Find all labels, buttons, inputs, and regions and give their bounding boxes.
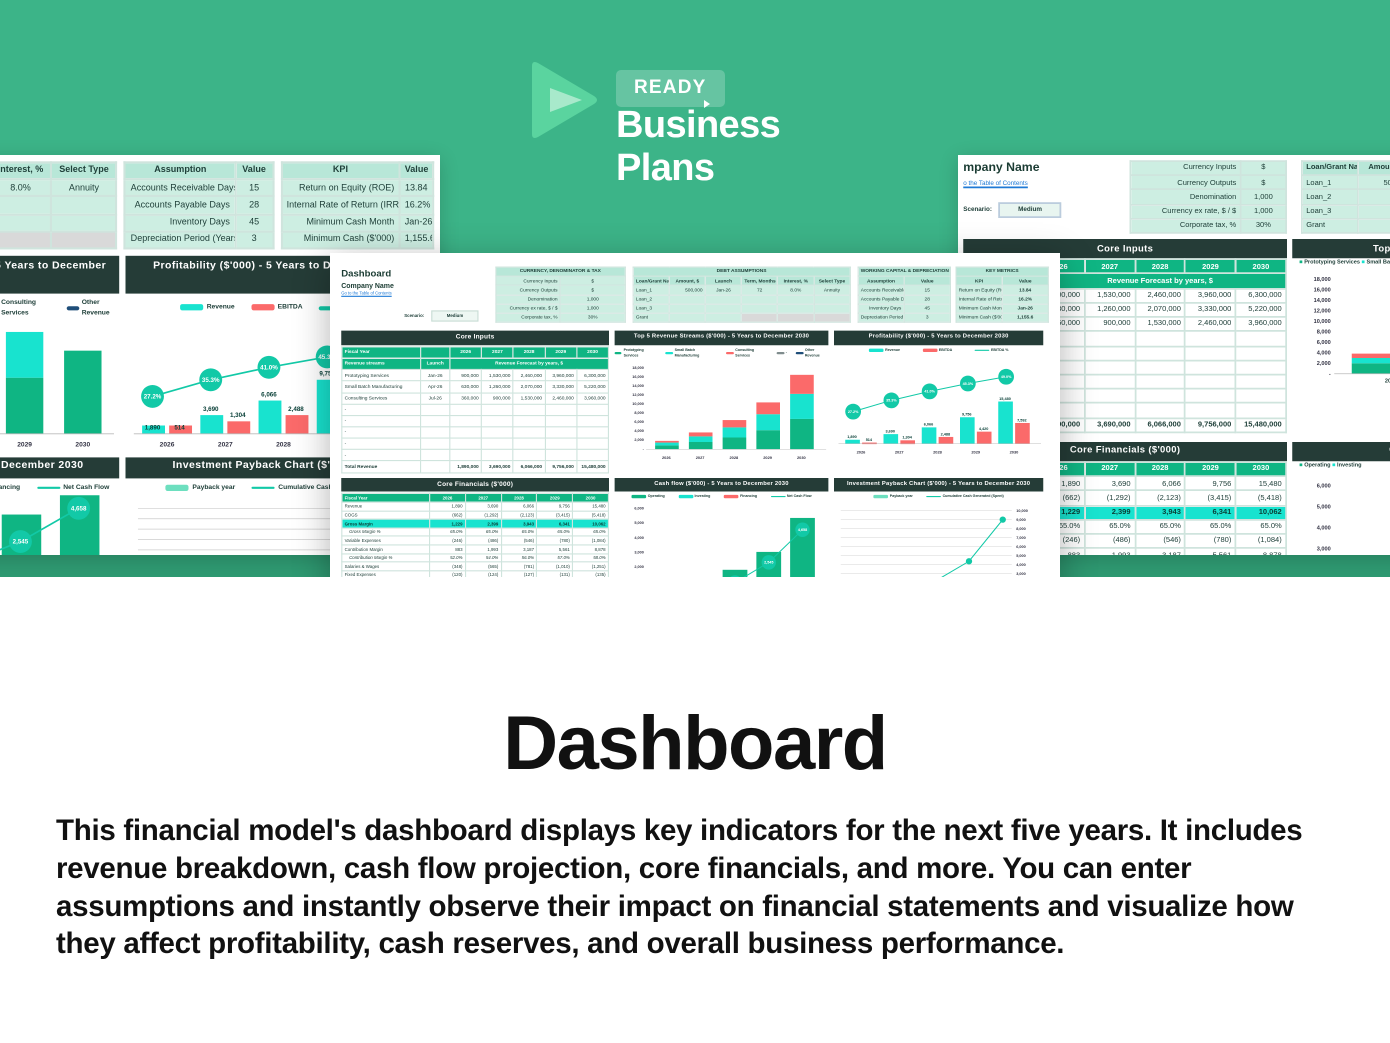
table-row[interactable]: Loan_3 — [633, 304, 850, 313]
wc-cell[interactable]: 45 — [904, 304, 950, 313]
svg-text:3,000: 3,000 — [1317, 546, 1331, 552]
currency-row-value[interactable]: 1,000 — [560, 304, 625, 313]
stream-value[interactable]: 1,530,000 — [513, 393, 545, 404]
table-row[interactable]: - — [342, 415, 609, 426]
fin-value: (1,010) — [537, 562, 573, 571]
core-inputs-table: Fiscal Year 2026 2027 2028 2029 2030 Rev… — [341, 346, 609, 473]
svg-text:10,000: 10,000 — [1314, 319, 1331, 325]
fin-value: (5,418) — [573, 511, 609, 520]
svg-text:2,000: 2,000 — [634, 437, 644, 441]
cash-flow-chart-title: Cash flow ($'000) - 5 Years to December … — [615, 478, 829, 492]
debt-cell[interactable]: Loan_2 — [633, 295, 669, 304]
table-row: Inventory Days45 — [858, 304, 950, 313]
stream-launch[interactable]: Apr-26 — [421, 381, 450, 392]
svg-text:27.2%: 27.2% — [143, 393, 161, 400]
revenue-label: 3,690 — [885, 429, 895, 433]
profitability-plot: 27.2% 35.3% 41.0% 45.3% 49.0% 1,890 514 … — [834, 353, 1043, 468]
currency-title: CURRENCY, DENOMINATOR & TAX — [495, 267, 625, 276]
fin-value: (1,292) — [465, 511, 501, 520]
svg-text:14,000: 14,000 — [1314, 298, 1331, 304]
stream-value[interactable]: 1,530,000 — [482, 370, 514, 381]
fin-value: 65.0% — [430, 528, 466, 537]
launch-label: Launch — [421, 358, 450, 369]
fin-value: 54.0% — [465, 554, 501, 563]
wc-col-head: Assumption — [858, 276, 904, 285]
fin-value: 1,890 — [430, 502, 466, 511]
km-cell: Internal Rate of Return (IRR), % — [956, 295, 1002, 304]
fin-value: (3,415) — [537, 511, 573, 520]
fin-label: Variable Expenses — [342, 536, 430, 545]
table-row[interactable]: Small Batch ManufacturingApr-26630,0001,… — [342, 381, 609, 392]
fin-label: COGS — [342, 511, 430, 520]
wc-cell[interactable]: 3 — [904, 313, 950, 322]
legend-label: Prototyping Services — [624, 348, 657, 359]
debt-col-head: Interest, % — [778, 276, 814, 285]
svg-text:41.0%: 41.0% — [259, 364, 277, 371]
svg-text:2,545: 2,545 — [13, 539, 29, 546]
y-tick: 3,000 — [634, 550, 644, 554]
legend-label: Payback year — [890, 494, 913, 499]
debt-col-head: Loan/Grant Name — [633, 276, 669, 285]
fin-value: 8,878 — [573, 545, 609, 554]
svg-text:18,000: 18,000 — [1314, 277, 1331, 283]
year-head: 2030 — [573, 494, 609, 503]
revenue-label: 15,480 — [999, 397, 1011, 401]
fin-value: (1,084) — [573, 536, 609, 545]
table-row[interactable]: Consulting ServicesJul-26360,000900,0001… — [342, 393, 609, 404]
year-head: 2029 — [537, 494, 573, 503]
fin-label: Revenue — [342, 502, 430, 511]
km-title: KEY METRICS — [956, 267, 1048, 276]
legend-label: Net Cash Flow — [787, 494, 812, 499]
debt-col-head: Launch — [705, 276, 741, 285]
svg-text:2027: 2027 — [217, 441, 232, 448]
small-play-icon — [704, 100, 710, 108]
wc-cell: Inventory Days — [858, 304, 904, 313]
x-tick: 2028 — [730, 454, 740, 459]
company-name: Company Name — [341, 281, 495, 291]
table-row: Return on Equity (ROE)13.84 — [956, 286, 1048, 295]
fin-value: 3,943 — [501, 519, 537, 528]
fin-value: 65.0% — [501, 528, 537, 537]
svg-text:2030: 2030 — [75, 441, 90, 448]
year-head: 2027 — [465, 494, 501, 503]
debt-cell[interactable]: 500,000 — [669, 286, 705, 295]
margin-label: 35.3% — [886, 398, 897, 402]
margin-label: 45.3% — [963, 382, 974, 386]
debt-cell[interactable]: 8.0% — [778, 286, 814, 295]
x-tick: 2029 — [971, 449, 981, 454]
currency-table: CURRENCY, DENOMINATOR & TAX Currency Inp… — [495, 267, 626, 324]
dashboard-title: Dashboard — [341, 267, 495, 281]
streams-label: Revenue streams — [342, 358, 421, 369]
x-tick: 2029 — [763, 454, 773, 459]
stream-name[interactable]: - — [342, 404, 421, 415]
legend-label: EBITDA — [939, 348, 952, 353]
svg-text:12,000: 12,000 — [632, 392, 644, 396]
total-value: 15,480,000 — [577, 461, 609, 472]
stream-launch[interactable]: Jul-26 — [421, 393, 450, 404]
revenue-label: 6,066 — [924, 422, 934, 426]
x-tick: 2026 — [662, 454, 672, 459]
ebitda-label: 7,592 — [1017, 418, 1027, 422]
fin-value: 6,066 — [501, 502, 537, 511]
table-row: Accounts Receivable Days15 — [858, 286, 950, 295]
table-row[interactable]: Prototyping ServicesJan-26900,0001,530,0… — [342, 370, 609, 381]
margin-label: 27.2% — [848, 410, 859, 414]
x-tick: 2028 — [933, 449, 943, 454]
year-head: 2027 — [482, 347, 514, 358]
svg-text:8,000: 8,000 — [634, 410, 644, 414]
stream-value[interactable]: 1,260,000 — [482, 381, 514, 392]
stream-value[interactable]: 3,960,000 — [577, 393, 609, 404]
fin-value: (135) — [573, 571, 609, 577]
revenue-label: 9,756 — [962, 412, 972, 416]
hero-banner: Amount, $LaunchTerm, MonthsInterest, %Se… — [0, 0, 1390, 577]
debt-col-head: Amount, $ — [669, 276, 705, 285]
stream-value[interactable]: 3,960,000 — [545, 370, 577, 381]
fin-value: (131) — [537, 571, 573, 577]
revenue-streams-chart: Prototyping Services Small Batch Manufac… — [615, 346, 829, 473]
currency-row-label: Corporate tax, % — [495, 313, 560, 322]
svg-text:4,658: 4,658 — [71, 505, 87, 512]
svg-text:8,000: 8,000 — [1317, 330, 1331, 336]
y-tick: 8,000 — [1016, 527, 1026, 531]
fin-value: 883 — [430, 545, 466, 554]
table-row: Minimum Cash MonthJan-26 — [956, 304, 1048, 313]
table-row: Contribution Margin8831,9933,1875,5618,8… — [342, 545, 609, 554]
revenue-streams-plot: 18,00016,00014,000 12,00010,0008,000 6,0… — [615, 358, 829, 473]
table-row[interactable]: - — [342, 438, 609, 449]
fin-value: 5,561 — [537, 545, 573, 554]
stream-name[interactable]: Small Batch Manufacturing — [342, 381, 421, 392]
margin-label: 49.0% — [1001, 375, 1012, 379]
km-value: Jan-26 — [1002, 304, 1048, 313]
total-value: 6,066,000 — [513, 461, 545, 472]
ebitda-label: 2,488 — [941, 432, 951, 436]
svg-text:4,000: 4,000 — [634, 428, 644, 432]
currency-row-value[interactable]: $ — [560, 276, 625, 285]
wc-cell[interactable]: 15 — [904, 286, 950, 295]
stream-name[interactable]: - — [342, 438, 421, 449]
svg-text:2,488: 2,488 — [287, 405, 303, 412]
core-financials-table: Fiscal Year 2026 2027 2028 2029 2030 Rev… — [341, 493, 609, 577]
fin-value: 6,341 — [537, 519, 573, 528]
toc-link[interactable]: Go to the Table of Contents — [341, 291, 495, 297]
fin-value: (1,251) — [573, 562, 609, 571]
svg-text:2029: 2029 — [17, 441, 32, 448]
table-row[interactable]: Loan_1 500,000 Jan-26 72 8.0% Annuity — [633, 286, 850, 295]
core-financials-header: Core Financials ($'000) — [341, 478, 609, 492]
table-row[interactable]: - — [342, 404, 609, 415]
fin-value: 65.0% — [537, 528, 573, 537]
stream-name[interactable]: Consulting Services — [342, 393, 421, 404]
year-head: 2029 — [545, 347, 577, 358]
stream-value[interactable]: 2,070,000 — [513, 381, 545, 392]
play-triangle-icon — [528, 60, 600, 140]
fin-value: 9,756 — [537, 502, 573, 511]
debt-col-head: Term, Months — [742, 276, 778, 285]
legend-label: Operating — [648, 494, 665, 499]
cash-flow-plot: 6,000 5,000 4,000 3,000 2,000 1,000 - (1… — [615, 499, 829, 577]
wc-cell[interactable]: 28 — [904, 295, 950, 304]
svg-text:6,000: 6,000 — [1317, 340, 1331, 346]
margin-label: 41.0% — [924, 389, 935, 393]
stream-value[interactable]: 630,000 — [450, 381, 482, 392]
currency-row-label: Currency Outputs — [495, 286, 560, 295]
table-row: COGS(662)(1,292)(2,123)(3,415)(5,418) — [342, 511, 609, 520]
table-row: Salaries & Wages(348)(565)(781)(1,010)(1… — [342, 562, 609, 571]
x-tick: 2027 — [895, 449, 905, 454]
stream-value[interactable]: 6,300,000 — [577, 370, 609, 381]
ebitda-label: 4,420 — [979, 427, 989, 431]
svg-text:6,000: 6,000 — [634, 419, 644, 423]
profitability-chart-title: Profitability ($'000) - 5 Years to Decem… — [834, 331, 1043, 345]
revenue-streams-chart-title: Top 5 Revenue Streams ($'000) - 5 Years … — [615, 331, 829, 345]
payback-chart-title: Investment Payback Chart ($'000) - 5 Yea… — [834, 478, 1043, 492]
fin-value: 57.0% — [537, 554, 573, 563]
table-row: Internal Rate of Return (IRR), %16.2% — [956, 295, 1048, 304]
fin-value: (781) — [501, 562, 537, 571]
fin-value: (246) — [430, 536, 466, 545]
table-row: Gross Margin %65.0%65.0%65.0%65.0%65.0% — [342, 528, 609, 537]
fin-label: Salaries & Wages — [342, 562, 430, 571]
km-cell: Minimum Cash ($'000) — [956, 313, 1002, 322]
fin-label: Contribution Margin — [342, 545, 430, 554]
stream-value[interactable]: 2,460,000 — [545, 393, 577, 404]
fin-value: 2,399 — [465, 519, 501, 528]
x-tick: 2030 — [1010, 449, 1020, 454]
fin-value: 1,993 — [465, 545, 501, 554]
forecast-label: Revenue Forecast by years, $ — [450, 358, 609, 369]
page-title: Dashboard — [0, 700, 1390, 787]
fiscal-year-label: Fiscal Year — [342, 494, 430, 503]
currency-row-label: Currency Inputs — [495, 276, 560, 285]
dashboard-spreadsheet[interactable]: Dashboard Company Name Go to the Table o… — [330, 253, 1060, 577]
legend-label: Other Revenue — [805, 348, 829, 359]
svg-text:35.3%: 35.3% — [201, 376, 219, 383]
brand-logo: READY Business Plans — [528, 58, 888, 158]
investment-payback-chart: Payback year Cumulative Cash Generated (… — [834, 493, 1043, 577]
fin-value: 1,229 — [430, 519, 466, 528]
fin-value: (662) — [430, 511, 466, 520]
svg-text:18,000: 18,000 — [632, 365, 644, 369]
svg-text:16,000: 16,000 — [632, 374, 644, 378]
investment-payback-plot: 10,000 9,000 8,000 7,000 6,000 5,000 4,0… — [834, 499, 1043, 577]
core-inputs-header: Core Inputs — [341, 331, 609, 345]
legend-label: Revenue — [885, 348, 900, 353]
svg-text:3,690: 3,690 — [202, 405, 218, 412]
km-cell: Minimum Cash Month — [956, 304, 1002, 313]
fin-value: (486) — [465, 536, 501, 545]
table-row: Accounts Payable Days28 — [858, 295, 950, 304]
total-value: 1,890,000 — [450, 461, 482, 472]
fiscal-year-label: Fiscal Year — [342, 347, 421, 358]
legend-label: Small Batch Manufacturing — [675, 348, 718, 359]
svg-text:12,000: 12,000 — [1314, 309, 1331, 315]
legend-label: EBITDA % — [991, 348, 1008, 353]
scenario-select[interactable]: Medium — [431, 310, 479, 322]
legend-label: Financing — [740, 494, 757, 499]
table-row: Contribution Margin %52.0%54.0%56.0%57.0… — [342, 554, 609, 563]
fin-label: Contribution Margin % — [342, 554, 430, 563]
stream-value[interactable]: 900,000 — [482, 393, 514, 404]
brand-name: Business Plans — [616, 104, 888, 190]
table-row: Gross Margin1,2292,3993,9436,34110,062 — [342, 519, 609, 528]
debt-cell[interactable]: Loan_3 — [633, 304, 669, 313]
fin-value: 65.0% — [573, 528, 609, 537]
wc-cell: Accounts Receivable Days — [858, 286, 904, 295]
debt-cell[interactable]: Annuity — [814, 286, 850, 295]
scenario-label: Scenario: — [404, 313, 424, 320]
table-row: Fixed Expenses(120)(124)(127)(131)(135) — [342, 571, 609, 577]
y-tick: 4,000 — [634, 536, 644, 540]
legend-label: Investing — [695, 494, 711, 499]
fin-value: 3,690 — [465, 502, 501, 511]
year-head: 2026 — [430, 494, 466, 503]
fin-value: (565) — [465, 562, 501, 571]
fin-value: 56.0% — [501, 554, 537, 563]
fin-value: 3,187 — [501, 545, 537, 554]
fin-value: (120) — [430, 571, 466, 577]
debt-cell[interactable]: 72 — [742, 286, 778, 295]
stream-value[interactable]: 900,000 — [450, 370, 482, 381]
legend-label: - — [786, 350, 787, 355]
table-row[interactable]: - — [342, 450, 609, 461]
fin-value: 10,062 — [573, 519, 609, 528]
x-tick: 2030 — [797, 454, 807, 459]
svg-text:1,890: 1,890 — [144, 424, 160, 431]
revenue-label: 1,890 — [847, 435, 857, 439]
dashboard-header-block: Dashboard Company Name Go to the Table o… — [341, 267, 495, 322]
ebitda-label: 514 — [866, 438, 873, 442]
year-head: 2026 — [450, 347, 482, 358]
y-tick: 6,000 — [634, 507, 644, 511]
svg-text:1,304: 1,304 — [229, 412, 245, 419]
y-tick: 4,000 — [1016, 563, 1026, 567]
profitability-chart: Revenue EBITDA EBITDA % — [834, 346, 1043, 473]
wc-cell: Accounts Payable Days — [858, 295, 904, 304]
working-capital-table: WORKING CAPITAL & DEPRECIATION Assumptio… — [857, 267, 951, 324]
wc-cell: Depreciation Period (Years) — [858, 313, 904, 322]
table-row: Variable Expenses(246)(486)(546)(780)(1,… — [342, 536, 609, 545]
total-value: 3,690,000 — [482, 461, 514, 472]
svg-text:2026: 2026 — [159, 441, 174, 448]
debt-cell[interactable]: Grant — [633, 313, 669, 322]
currency-row-value[interactable]: 1,000 — [560, 295, 625, 304]
svg-text:514: 514 — [173, 424, 184, 431]
km-value: 16.2% — [1002, 295, 1048, 304]
svg-text:6,066: 6,066 — [260, 391, 276, 398]
fin-value: 58.0% — [573, 554, 609, 563]
fin-value: (780) — [537, 536, 573, 545]
year-head: 2028 — [501, 494, 537, 503]
ebitda-label: 1,304 — [902, 435, 912, 439]
net-label: 2,545 — [764, 561, 773, 565]
km-cell: Return on Equity (ROE) — [956, 286, 1002, 295]
km-col-head: Value — [1002, 276, 1048, 285]
stream-value[interactable]: 2,460,000 — [513, 370, 545, 381]
x-tick: 2027 — [696, 454, 706, 459]
wc-title: WORKING CAPITAL & DEPRECIATION — [858, 267, 950, 276]
debt-title: DEBT ASSUMPTIONS — [633, 267, 850, 276]
y-tick: 2,000 — [634, 565, 644, 569]
svg-text:5,000: 5,000 — [1317, 504, 1331, 510]
stream-name[interactable]: - — [342, 450, 421, 461]
svg-text:14,000: 14,000 — [632, 383, 644, 387]
fin-value: (348) — [430, 562, 466, 571]
table-row[interactable]: - — [342, 427, 609, 438]
fin-value: (546) — [501, 536, 537, 545]
table-row: Total Revenue1,890,0003,690,0006,066,000… — [342, 461, 609, 472]
stream-name[interactable]: - — [342, 415, 421, 426]
table-row[interactable]: Grant — [633, 313, 850, 322]
year-head: 2028 — [513, 347, 545, 358]
svg-text:16,000: 16,000 — [1314, 288, 1331, 294]
fin-label: Gross Margin % — [342, 528, 430, 537]
stream-name[interactable]: Prototyping Services — [342, 370, 421, 381]
y-tick: 3,000 — [1016, 572, 1026, 576]
page-description: This financial model's dashboard display… — [56, 812, 1341, 963]
debt-cell[interactable]: Jan-26 — [705, 286, 741, 295]
debt-assumptions-table: DEBT ASSUMPTIONS Loan/Grant Name Amount,… — [633, 267, 851, 324]
fin-label: Fixed Expenses — [342, 571, 430, 577]
net-label: 4,658 — [798, 528, 807, 532]
total-value: 9,756,000 — [545, 461, 577, 472]
svg-text:-: - — [1329, 372, 1331, 378]
key-metrics-table: KEY METRICS KPIValue Return on Equity (R… — [955, 267, 1049, 324]
description-section: Dashboard This financial model's dashboa… — [0, 577, 1390, 1043]
svg-text:-: - — [643, 446, 645, 450]
km-col-head: KPI — [956, 276, 1002, 285]
fin-label: Gross Margin — [342, 519, 430, 528]
debt-cell[interactable]: Loan_1 — [633, 286, 669, 295]
debt-col-head: Select Type — [814, 276, 850, 285]
year-head: 2030 — [577, 347, 609, 358]
svg-text:10,000: 10,000 — [632, 401, 644, 405]
fin-value: 15,480 — [573, 502, 609, 511]
stream-launch[interactable]: Jan-26 — [421, 370, 450, 381]
svg-text:4,000: 4,000 — [1317, 351, 1331, 357]
legend-label: Consulting Services — [735, 348, 767, 359]
fin-value: 65.0% — [465, 528, 501, 537]
svg-text:2028: 2028 — [275, 441, 290, 448]
y-tick: 10,000 — [1016, 509, 1028, 513]
legend-label: Cumulative Cash Generated (Spent) — [943, 494, 1004, 499]
km-value: 1,155.6 — [1002, 313, 1048, 322]
fin-value: (127) — [501, 571, 537, 577]
currency-row-label: Denomination — [495, 295, 560, 304]
table-row: Revenue1,8903,6906,0669,75615,480 — [342, 502, 609, 511]
y-tick: 9,000 — [1016, 518, 1026, 522]
y-tick: 5,000 — [634, 521, 644, 525]
stream-value[interactable]: 3,330,000 — [545, 381, 577, 392]
currency-row-value[interactable]: 30% — [560, 313, 625, 322]
svg-text:2,000: 2,000 — [1317, 361, 1331, 367]
stream-value[interactable]: 360,000 — [450, 393, 482, 404]
stream-value[interactable]: 5,220,000 — [577, 381, 609, 392]
stream-name[interactable]: - — [342, 427, 421, 438]
table-row[interactable]: Loan_2 — [633, 295, 850, 304]
currency-row-value[interactable]: $ — [560, 286, 625, 295]
total-revenue-label: Total Revenue — [342, 461, 421, 472]
x-tick: 2026 — [857, 449, 867, 454]
currency-row-label: Currency ex rate, $ / $ — [495, 304, 560, 313]
svg-text:6,000: 6,000 — [1317, 483, 1331, 489]
y-tick: 7,000 — [1016, 536, 1026, 540]
fin-value: (124) — [465, 571, 501, 577]
table-row: Minimum Cash ($'000)1,155.6 — [956, 313, 1048, 322]
